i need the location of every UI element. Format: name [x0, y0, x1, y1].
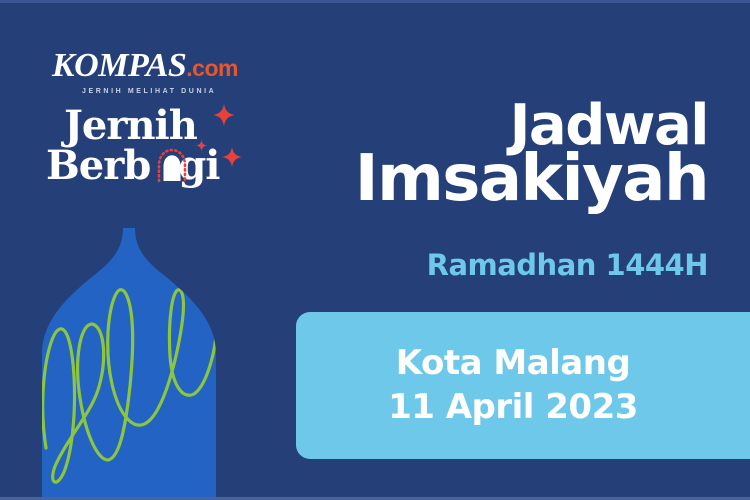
campaign-line-berbagi: Berbgi — [46, 142, 219, 189]
headline-line-imsakiyah: Imsakiyah — [355, 150, 708, 210]
dotted-arch-letter-a-icon — [155, 148, 189, 182]
kompas-logo-domain: .com — [186, 55, 238, 81]
card-location: Kota Malang — [396, 342, 631, 385]
kompas-logo-text: KOMPAS — [52, 47, 186, 84]
campaign-berbagi-prefix: Berb — [46, 142, 150, 189]
mosque-dome-decoration — [42, 228, 216, 500]
kompas-logo[interactable]: KOMPAS.com JERNIH MELIHAT DUNIA — [52, 48, 272, 95]
top-edge-strip — [0, 0, 750, 3]
four-point-sparkle-icon — [222, 147, 242, 167]
location-date-card: Kota Malang 11 April 2023 — [296, 312, 750, 459]
four-point-sparkle-icon — [213, 104, 235, 126]
headline-block: Jadwal Imsakiyah — [355, 100, 708, 210]
kompas-wordmark: KOMPAS.com — [52, 48, 272, 86]
headline-subtitle: Ramadhan 1444H — [427, 248, 708, 282]
poster-canvas: KOMPAS.com JERNIH MELIHAT DUNIA Jernih B… — [0, 0, 750, 500]
card-date: 11 April 2023 — [388, 386, 638, 429]
kompas-tagline: JERNIH MELIHAT DUNIA — [82, 88, 272, 95]
four-point-sparkle-icon — [196, 140, 207, 151]
